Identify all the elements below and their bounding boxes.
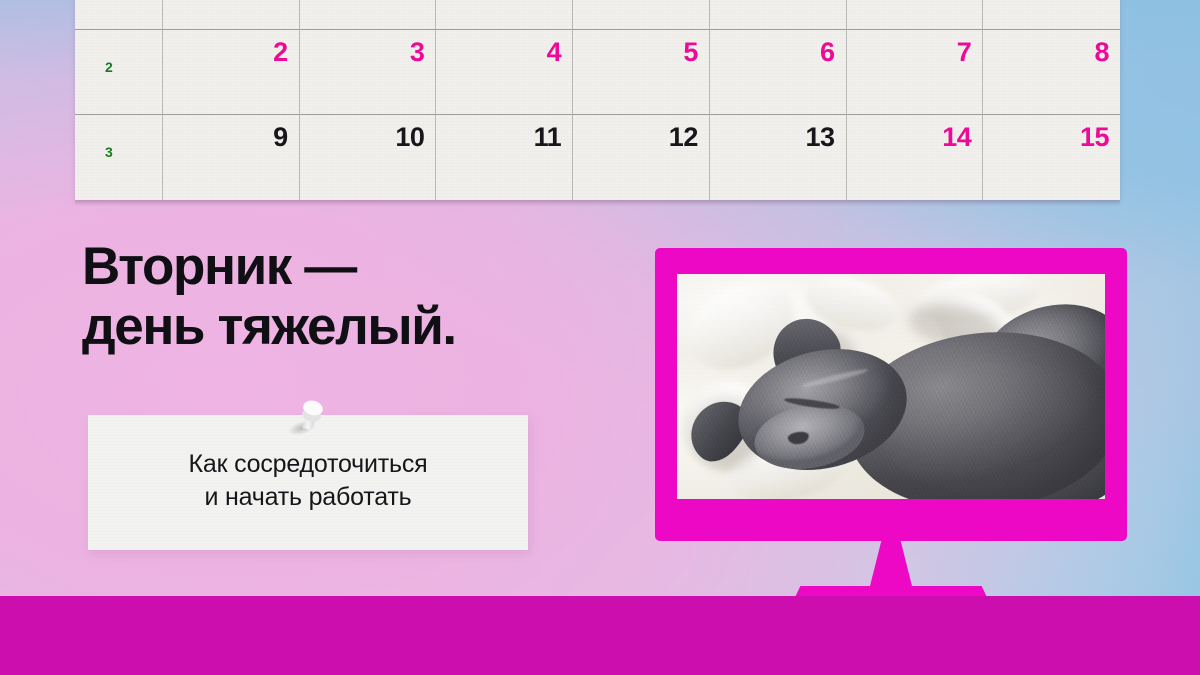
calendar-day-cell[interactable]: 5 [573, 30, 710, 115]
calendar-day-cell[interactable]: 7 [847, 30, 984, 115]
day-number: 15 [1080, 124, 1109, 151]
slide-canvas: 2 2 3 4 5 6 7 8 3 9 10 11 12 13 14 15 Вт… [0, 0, 1200, 675]
day-number: 10 [395, 124, 424, 151]
day-number: 13 [806, 124, 835, 151]
day-number: 6 [820, 39, 835, 66]
day-number: 4 [547, 39, 562, 66]
week-number: 3 [105, 145, 113, 159]
day-number: 11 [534, 124, 562, 151]
day-number: 2 [273, 39, 288, 66]
calendar-day-cell[interactable] [436, 0, 573, 30]
calendar-day-cell[interactable]: 9 [163, 115, 300, 200]
sleeping-cat-photo [677, 274, 1105, 499]
day-number: 8 [1094, 39, 1109, 66]
note-card-text: Как сосредоточиться и начать работать [88, 448, 528, 514]
week-number: 2 [105, 60, 113, 74]
calendar-day-cell[interactable] [847, 0, 984, 30]
day-number: 5 [683, 39, 698, 66]
day-number: 12 [669, 124, 698, 151]
week-number-cell [75, 0, 163, 30]
calendar-day-cell[interactable]: 10 [300, 115, 437, 200]
day-number: 9 [273, 124, 288, 151]
calendar-day-cell[interactable]: 2 [163, 30, 300, 115]
monitor-screen [677, 274, 1105, 499]
week-number-cell: 2 [75, 30, 163, 115]
note-card: Как сосредоточиться и начать работать [88, 415, 528, 550]
page-title: Вторник — день тяжелый. [82, 237, 642, 358]
calendar-day-cell[interactable]: 14 [847, 115, 984, 200]
day-number: 14 [942, 124, 971, 151]
monitor-stand-neck [868, 539, 914, 594]
calendar-day-cell[interactable]: 15 [983, 115, 1120, 200]
calendar-day-cell[interactable]: 8 [983, 30, 1120, 115]
calendar-sheet: 2 2 3 4 5 6 7 8 3 9 10 11 12 13 14 15 [75, 0, 1120, 200]
calendar-day-cell[interactable]: 11 [436, 115, 573, 200]
calendar-day-cell[interactable] [573, 0, 710, 30]
calendar-day-cell[interactable] [710, 0, 847, 30]
calendar-day-cell[interactable]: 6 [710, 30, 847, 115]
calendar-day-cell[interactable] [983, 0, 1120, 30]
day-number: 7 [957, 39, 972, 66]
week-number-cell: 3 [75, 115, 163, 200]
calendar-day-cell[interactable]: 4 [436, 30, 573, 115]
calendar-day-cell[interactable] [163, 0, 300, 30]
day-number: 3 [410, 39, 425, 66]
calendar-day-cell[interactable]: 13 [710, 115, 847, 200]
calendar-day-cell[interactable]: 12 [573, 115, 710, 200]
calendar-grid: 2 2 3 4 5 6 7 8 3 9 10 11 12 13 14 15 [75, 0, 1120, 200]
calendar-day-cell[interactable]: 3 [300, 30, 437, 115]
monitor-illustration [655, 248, 1127, 548]
bottom-accent-bar [0, 596, 1200, 675]
calendar-day-cell[interactable] [300, 0, 437, 30]
